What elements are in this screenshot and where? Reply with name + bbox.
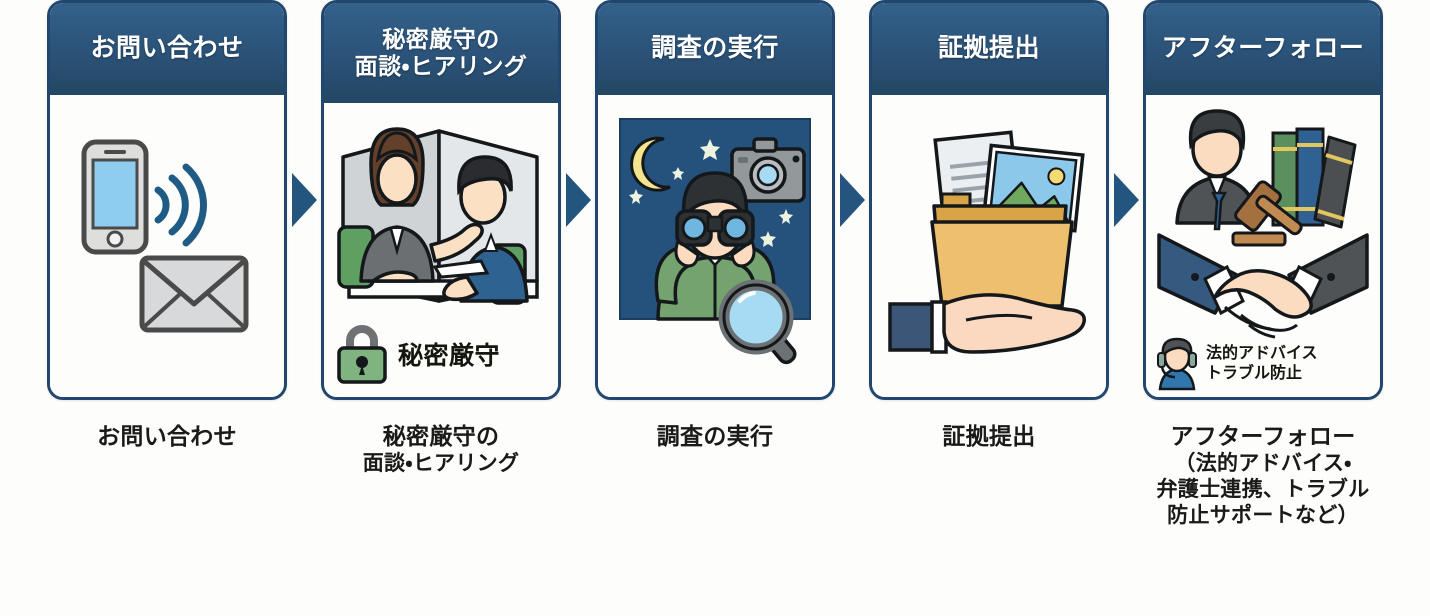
hand-holding-folder-illustration	[882, 106, 1097, 386]
step-caption-evidence: 証拠提出	[854, 422, 1124, 451]
step-header-line-2: 面談・ヒアリング	[355, 53, 528, 80]
arrow-right-icon	[566, 173, 591, 227]
flow-step-1: お問い合わせ	[47, 0, 287, 451]
confidentiality-badge: 秘密厳守	[334, 323, 500, 385]
arrow-right-icon	[840, 173, 865, 227]
step-illustration-interview: 秘密厳守	[324, 103, 558, 397]
step-card-evidence[interactable]: 証拠提出	[869, 0, 1109, 400]
aftercare-note: 法的アドバイス トラブル防止	[1154, 337, 1318, 391]
aftercare-note-line-1: 法的アドバイス	[1206, 344, 1318, 364]
step-caption-interview: 秘密厳守の 面談・ヒアリング	[306, 422, 576, 477]
smartphone-and-envelope-illustration	[62, 106, 272, 386]
step-illustration-evidence	[872, 95, 1106, 397]
handshake-icon	[1159, 235, 1367, 337]
caption-main: お問い合わせ	[97, 423, 237, 449]
step-header-aftercare: アフターフォロー	[1146, 3, 1380, 95]
envelope-icon	[142, 258, 246, 330]
step-header-interview: 秘密厳守の 面談・ヒアリング	[324, 3, 558, 103]
caption-sub-line-1: （法的アドバイス・	[1128, 451, 1398, 477]
step-card-contact[interactable]: お問い合わせ	[47, 0, 287, 400]
flow-step-5: アフターフォロー	[1143, 0, 1383, 530]
folder-icon	[932, 194, 1072, 306]
step-caption-investigation: 調査の実行	[580, 422, 850, 451]
flow-step-4: 証拠提出	[869, 0, 1109, 451]
step-card-interview[interactable]: 秘密厳守の 面談・ヒアリング	[321, 0, 561, 400]
step-card-investigation[interactable]: 調査の実行	[595, 0, 835, 400]
arrow-right-icon	[1114, 173, 1139, 227]
flow-arrow-4	[1109, 0, 1143, 400]
aftercare-note-line-2: トラブル防止	[1206, 364, 1318, 384]
caption-main: 証拠提出	[942, 423, 1035, 449]
step-illustration-investigation	[598, 95, 832, 397]
process-flow-diagram: お問い合わせ	[0, 0, 1430, 616]
flow-step-3: 調査の実行	[595, 0, 835, 451]
caption-sub-line-3: 防止サポートなど）	[1128, 503, 1398, 529]
step-card-aftercare[interactable]: アフターフォロー	[1143, 0, 1383, 400]
caption-sub-line-2: 弁護士連携、トラブル	[1128, 477, 1398, 503]
aftercare-note-text: 法的アドバイス トラブル防止	[1206, 344, 1318, 385]
flow-step-2: 秘密厳守の 面談・ヒアリング	[321, 0, 561, 477]
headset-operator-icon	[1154, 337, 1200, 391]
caption-main: アフターフォロー	[1170, 423, 1355, 449]
magnifier-icon	[724, 285, 798, 365]
padlock-icon	[334, 323, 390, 385]
flow-arrow-1	[287, 0, 321, 400]
step-illustration-contact	[50, 95, 284, 397]
step-illustration-aftercare: 法的アドバイス トラブル防止	[1146, 95, 1380, 397]
confidentiality-badge-label: 秘密厳守	[398, 336, 500, 372]
step-caption-aftercare: アフターフォロー （法的アドバイス・ 弁護士連携、トラブル 防止サポートなど）	[1128, 422, 1398, 530]
smartphone-icon	[84, 142, 146, 252]
caption-sub: 面談・ヒアリング	[306, 451, 576, 477]
step-caption-contact: お問い合わせ	[32, 422, 302, 451]
flow-arrow-2	[561, 0, 595, 400]
signal-waves-icon	[158, 167, 204, 243]
step-header-evidence: 証拠提出	[872, 3, 1106, 95]
step-header-contact: お問い合わせ	[50, 3, 284, 95]
step-header-investigation: 調査の実行	[598, 3, 832, 95]
caption-main: 調査の実行	[657, 423, 774, 449]
caption-main: 秘密厳守の	[383, 423, 500, 449]
flow-arrow-3	[835, 0, 869, 400]
step-header-line-1: 秘密厳守の	[355, 26, 528, 53]
night-surveillance-illustration	[608, 101, 823, 391]
arrow-right-icon	[292, 173, 317, 227]
